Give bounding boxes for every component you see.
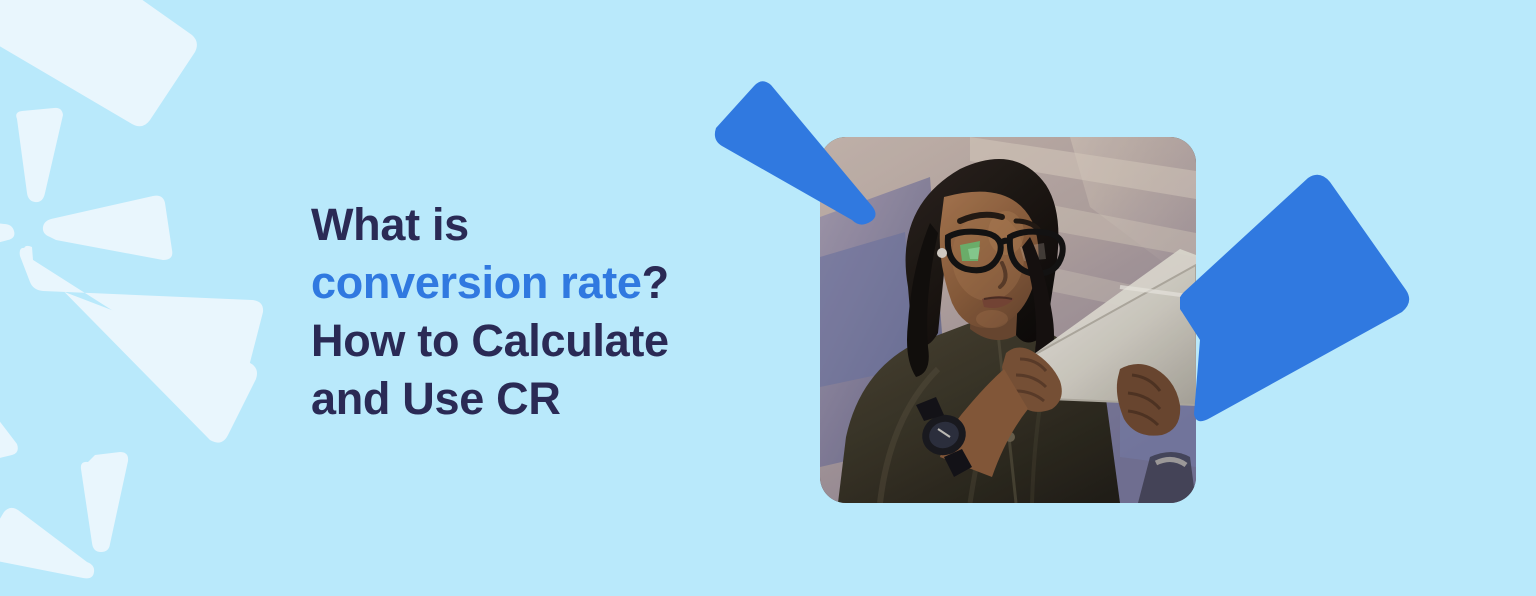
sparkle-burst-decoration <box>0 0 320 596</box>
media-group <box>700 70 1412 530</box>
headline-accent-phrase: conversion rate <box>311 257 642 308</box>
headline-block: What is conversion rate? How to Calculat… <box>311 196 741 428</box>
hero-banner: What is conversion rate? How to Calculat… <box>0 0 1536 596</box>
page-title: What is conversion rate? How to Calculat… <box>311 196 741 428</box>
hero-photo <box>820 137 1196 503</box>
headline-line-4: and Use CR <box>311 373 561 424</box>
blue-arrow-right-icon <box>1180 170 1412 435</box>
sparkle-burst-icon <box>0 0 320 596</box>
headline-line-1: What is <box>311 199 469 250</box>
headline-question-mark: ? <box>642 257 669 308</box>
headline-line-3: How to Calculate <box>311 315 669 366</box>
woman-reading-tablet-illustration <box>820 137 1196 503</box>
